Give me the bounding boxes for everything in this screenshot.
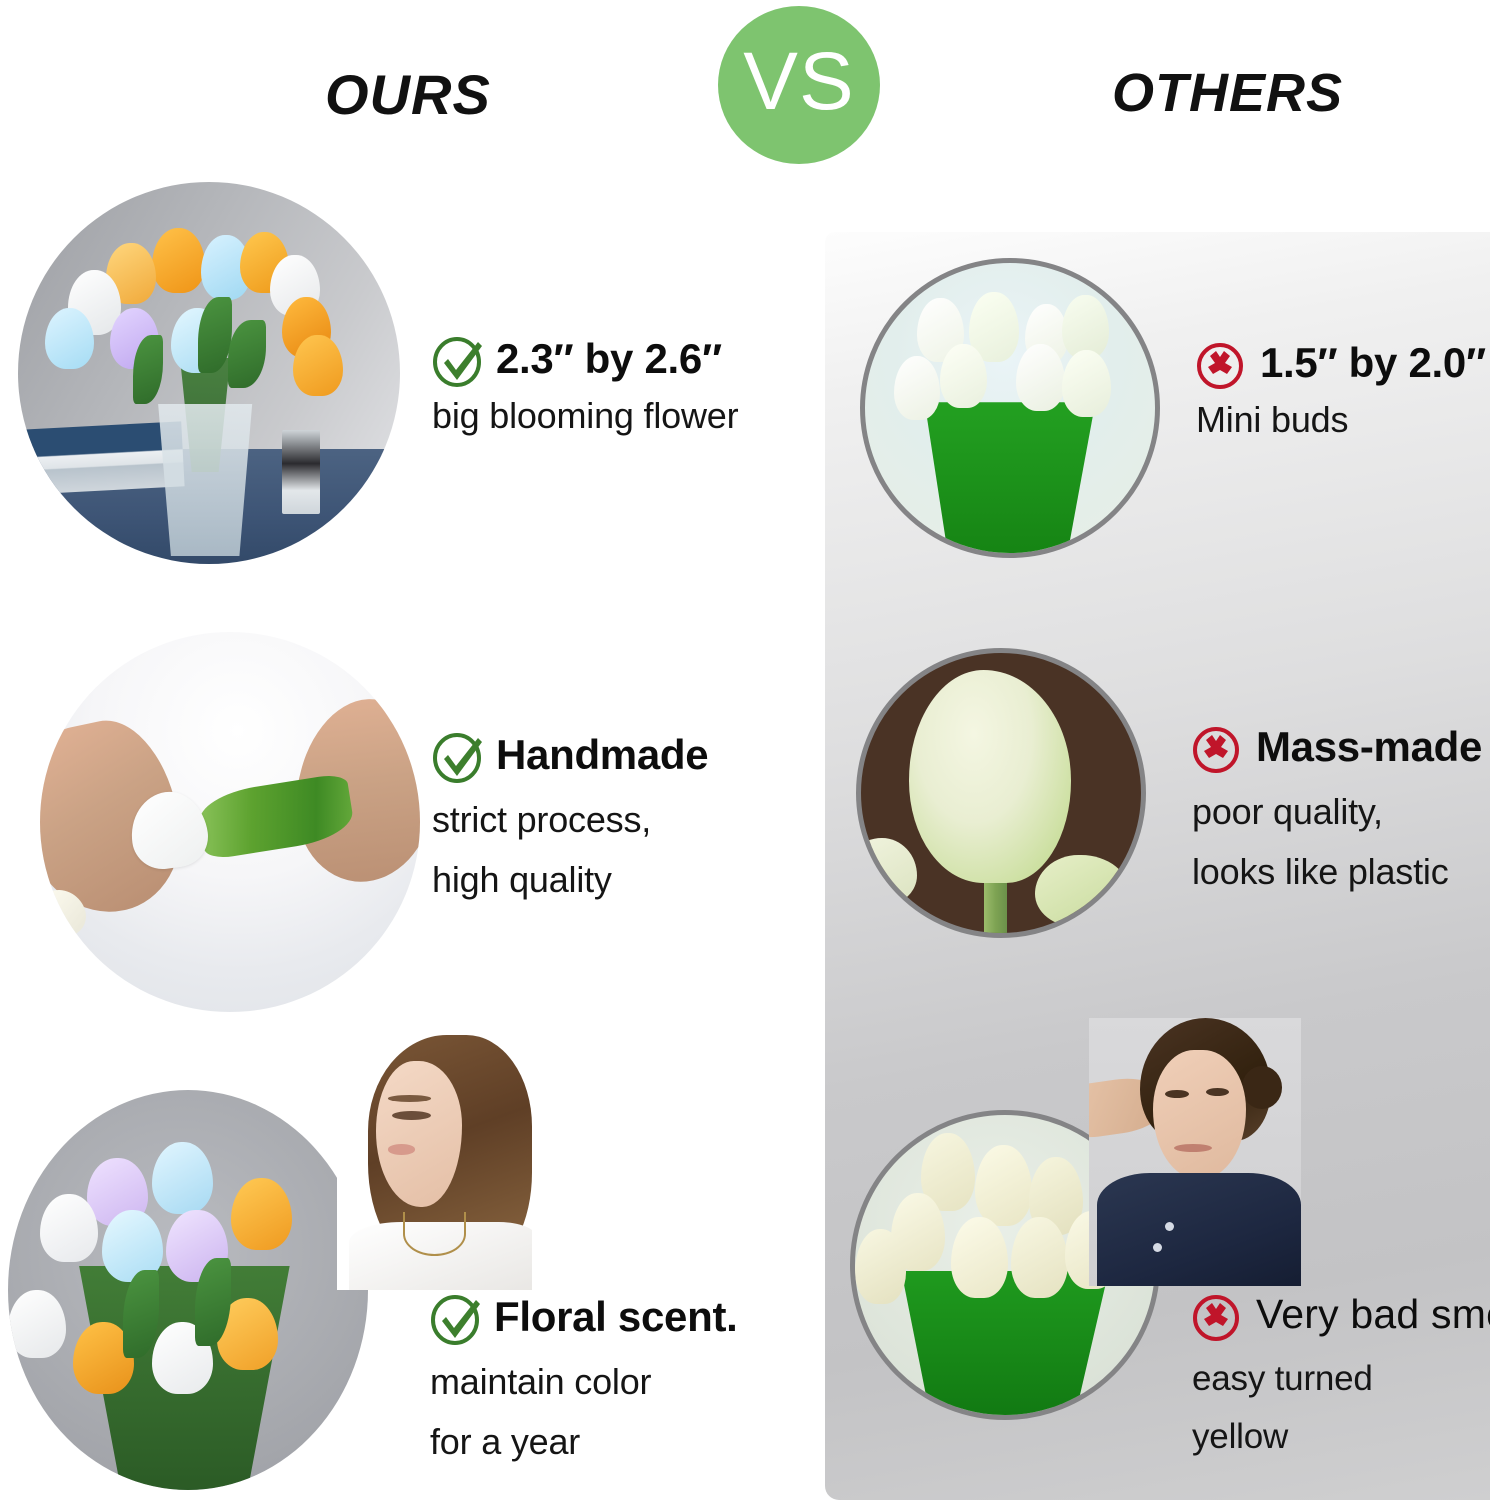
vs-badge-label: VS <box>743 41 854 129</box>
photo-reed-diffuser <box>282 430 320 514</box>
tulip-white-2 <box>8 1290 66 1358</box>
others-photo-mini-buds <box>860 258 1160 558</box>
ours-photo-bouquet-vase <box>18 182 400 564</box>
photo-books <box>18 422 184 496</box>
others-feature-2-title: Mass-made <box>1256 726 1482 769</box>
photo-side-petal <box>856 838 917 905</box>
others-feature-2: Mass-made poor quality, looks like plast… <box>1192 726 1482 902</box>
tulip-white-8 <box>1062 350 1111 417</box>
photo-mouth <box>1174 1144 1212 1152</box>
tulip-white-7 <box>1016 344 1065 411</box>
others-photo-closeup-petal <box>856 648 1146 938</box>
others-feature-2-subtitle: poor quality, looks like plastic <box>1192 782 1482 902</box>
tulip-orange <box>152 228 205 293</box>
ours-feature-2: Handmade strict process, high quality <box>432 734 708 910</box>
photo-navy-top <box>1097 1173 1301 1286</box>
photo-closed-eye <box>392 1111 431 1120</box>
comparison-infographic: OURS VS OTHERS <box>0 0 1490 1500</box>
others-feature-3-subtitle: easy turned yellow <box>1192 1350 1490 1466</box>
ours-inset-woman-smelling <box>337 1030 532 1290</box>
check-circle-icon <box>430 1294 486 1346</box>
photo-necklace <box>403 1212 466 1256</box>
ours-feature-1-subtitle: big blooming flower <box>432 394 738 438</box>
tulip-blue <box>152 1142 213 1214</box>
tulip-white <box>40 1194 98 1262</box>
vs-badge: VS <box>718 6 880 164</box>
tulip-cream-6 <box>951 1217 1008 1298</box>
others-feature-3-title: Very bad smell <box>1256 1294 1490 1336</box>
ours-feature-1: 2.3″ by 2.6″ big blooming flower <box>432 338 738 438</box>
ours-column-title: OURS <box>325 62 491 127</box>
tulip-cream-7 <box>1011 1217 1068 1298</box>
photo-button <box>1165 1222 1174 1231</box>
tulip-orange-4 <box>293 335 343 396</box>
ours-photo-handmade <box>40 632 420 1012</box>
others-feature-1: 1.5″ by 2.0″ Mini buds <box>1196 342 1486 442</box>
photo-eyebrow <box>388 1095 431 1102</box>
tulip-cream-2 <box>975 1145 1032 1226</box>
check-circle-icon <box>432 732 488 784</box>
tulip-white-6 <box>940 344 986 408</box>
tulip-white-5 <box>894 356 940 420</box>
photo-side-petal <box>1035 855 1130 928</box>
photo-hair-bun <box>1242 1066 1282 1109</box>
ours-feature-3: Floral scent. maintain color for a year <box>430 1296 738 1472</box>
check-circle-icon <box>432 336 488 388</box>
others-feature-3: Very bad smell easy turned yellow <box>1192 1294 1490 1466</box>
cross-circle-icon <box>1192 1292 1248 1344</box>
others-feature-1-subtitle: Mini buds <box>1196 398 1486 442</box>
photo-button <box>1153 1243 1162 1252</box>
others-inset-woman-pinching-nose <box>1089 1018 1301 1286</box>
ours-photo-pastel-bouquet <box>8 1090 368 1490</box>
ours-feature-3-subtitle: maintain color for a year <box>430 1352 738 1472</box>
ours-feature-2-subtitle: strict process, high quality <box>432 790 708 910</box>
photo-lips <box>388 1144 415 1154</box>
others-feature-1-title: 1.5″ by 2.0″ <box>1260 342 1486 385</box>
others-column-title: OTHERS <box>1112 62 1343 124</box>
ours-feature-2-title: Handmade <box>496 734 708 777</box>
photo-main-petal <box>909 670 1071 883</box>
photo-eye-right <box>1206 1088 1229 1096</box>
tulip-orange <box>231 1178 292 1250</box>
photo-face <box>376 1061 462 1207</box>
ours-feature-1-title: 2.3″ by 2.6″ <box>496 338 722 381</box>
cross-circle-icon <box>1196 340 1252 392</box>
tulip-cream-5 <box>855 1229 906 1304</box>
photo-face <box>1153 1050 1246 1179</box>
ours-feature-3-title: Floral scent. <box>494 1296 738 1339</box>
cross-circle-icon <box>1192 724 1248 776</box>
